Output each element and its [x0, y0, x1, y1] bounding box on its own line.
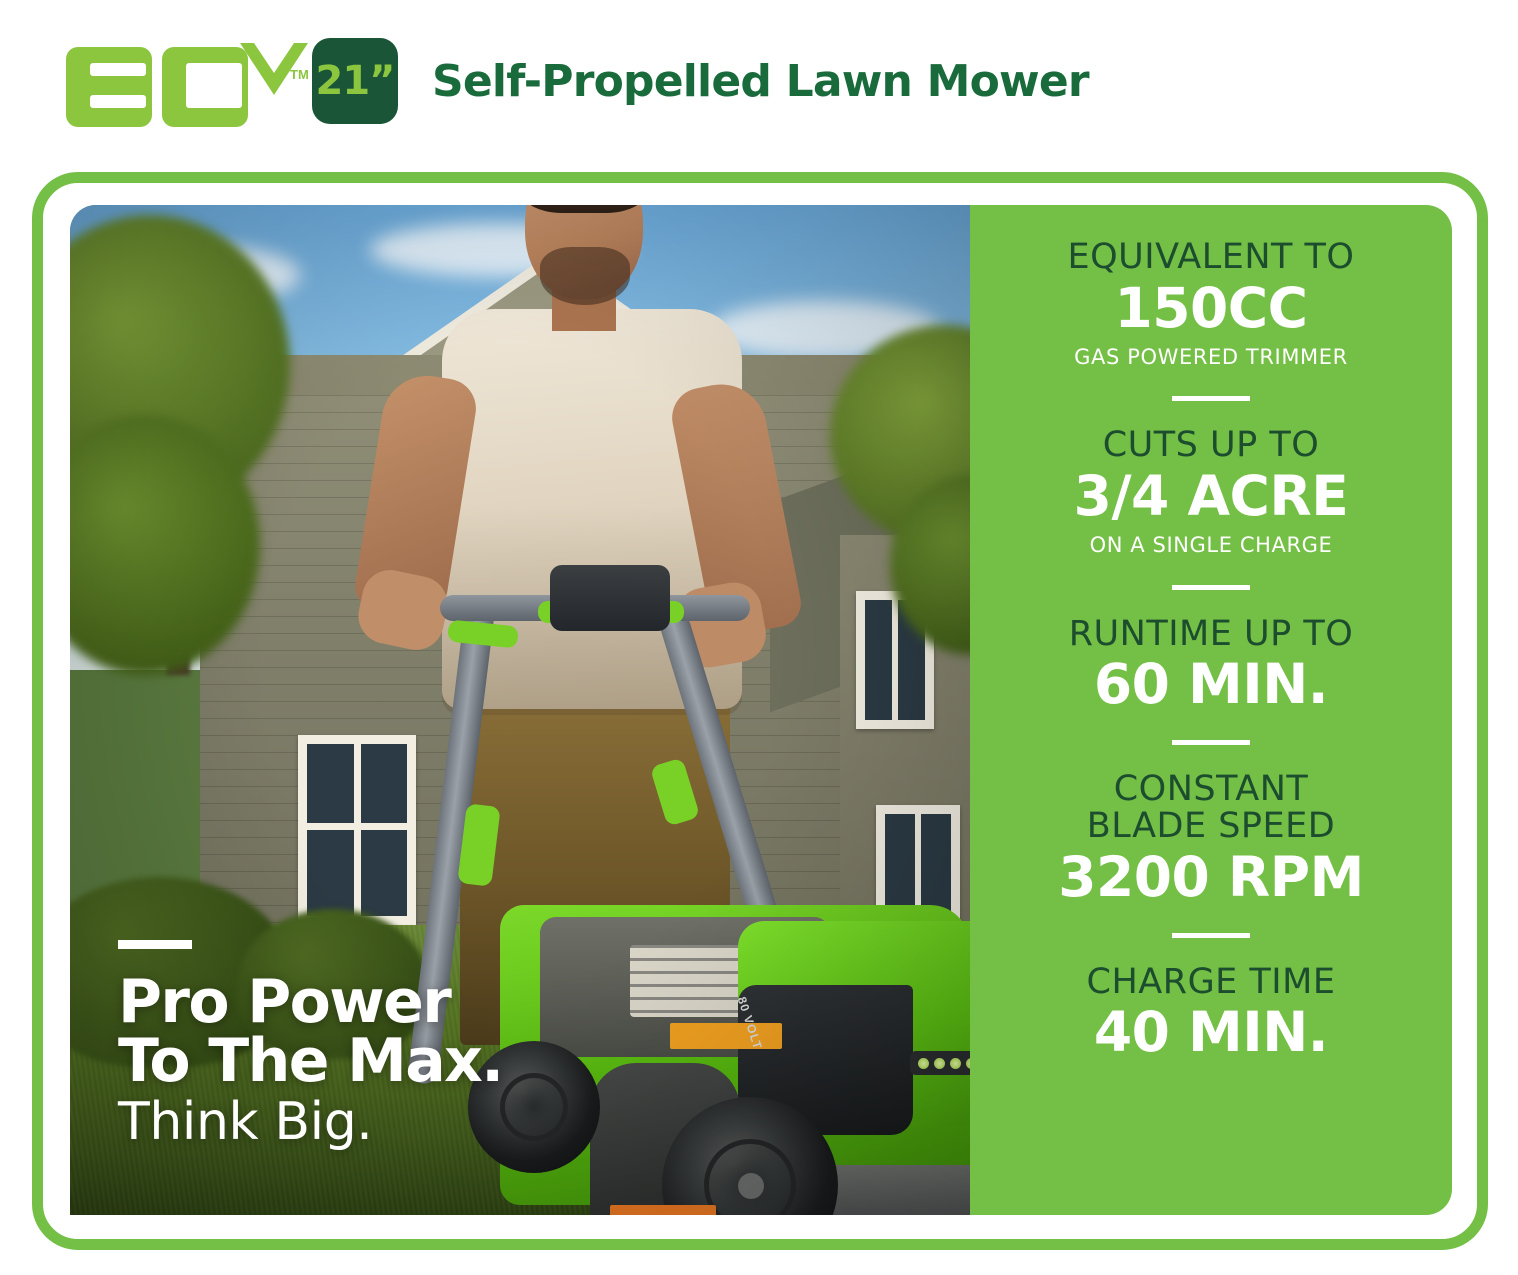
mower-led-headlight	[910, 1051, 970, 1075]
spec-equivalent-cc: EQUIVALENT TO 150CC GAS POWERED TRIMMER	[970, 239, 1452, 370]
mower-warning-label	[610, 1205, 716, 1215]
headline-line-3: Think Big.	[118, 1092, 502, 1153]
person-beard	[540, 247, 630, 305]
spec-divider	[1172, 396, 1250, 401]
spec-label: EQUIVALENT TO	[988, 239, 1434, 277]
hero-headline: Pro Power To The Max. Think Big.	[118, 940, 502, 1153]
spec-cut-area: CUTS UP TO 3/4 ACRE ON A SINGLE CHARGE	[970, 427, 1452, 558]
spec-label-line-1: CONSTANT	[988, 771, 1434, 809]
headline-rule	[118, 940, 192, 949]
house-window	[298, 735, 416, 925]
mower-warning-sticker	[670, 1023, 782, 1049]
spec-value: 150CC	[988, 279, 1434, 337]
badge-cutting-width: 21”	[312, 38, 398, 124]
headline-line-1: Pro Power	[118, 973, 502, 1032]
spec-divider	[1172, 585, 1250, 590]
spec-value: 40 MIN.	[988, 1003, 1434, 1061]
spec-label: RUNTIME UP TO	[988, 616, 1434, 654]
spec-value: 3200 RPM	[988, 848, 1434, 906]
page-header: TM 21” Self-Propelled Lawn Mower	[58, 26, 1089, 136]
spec-value: 3/4 ACRE	[988, 467, 1434, 525]
spec-divider	[1172, 933, 1250, 938]
spec-label: CHARGE TIME	[988, 964, 1434, 1002]
spec-charge-time: CHARGE TIME 40 MIN.	[970, 964, 1452, 1062]
headline-line-2: To The Max.	[118, 1032, 502, 1091]
spec-label-line-2: BLADE SPEED	[988, 808, 1434, 846]
spec-sub: ON A SINGLE CHARGE	[988, 533, 1434, 558]
page-title: Self-Propelled Lawn Mower	[432, 56, 1089, 107]
mower-control-pod	[550, 565, 670, 631]
logo-80v: TM	[58, 35, 308, 127]
spec-sub: GAS POWERED TRIMMER	[988, 345, 1434, 370]
spec-blade-speed: CONSTANT BLADE SPEED 3200 RPM	[970, 771, 1452, 907]
spec-value: 60 MIN.	[988, 655, 1434, 713]
specs-panel: EQUIVALENT TO 150CC GAS POWERED TRIMMER …	[970, 205, 1452, 1215]
svg-text:TM: TM	[290, 67, 308, 82]
hero-photo: 80 VOLT Pro Power To The Max. Think Big.	[70, 205, 970, 1215]
spec-runtime: RUNTIME UP TO 60 MIN.	[970, 616, 1452, 714]
badge-size-label: 21”	[316, 61, 395, 101]
mower-wheel-hub	[738, 1173, 764, 1199]
card-content: 80 VOLT Pro Power To The Max. Think Big.…	[70, 205, 1452, 1215]
spec-label: CUTS UP TO	[988, 427, 1434, 465]
logo-80v-mark: TM	[58, 35, 308, 127]
spec-divider	[1172, 740, 1250, 745]
